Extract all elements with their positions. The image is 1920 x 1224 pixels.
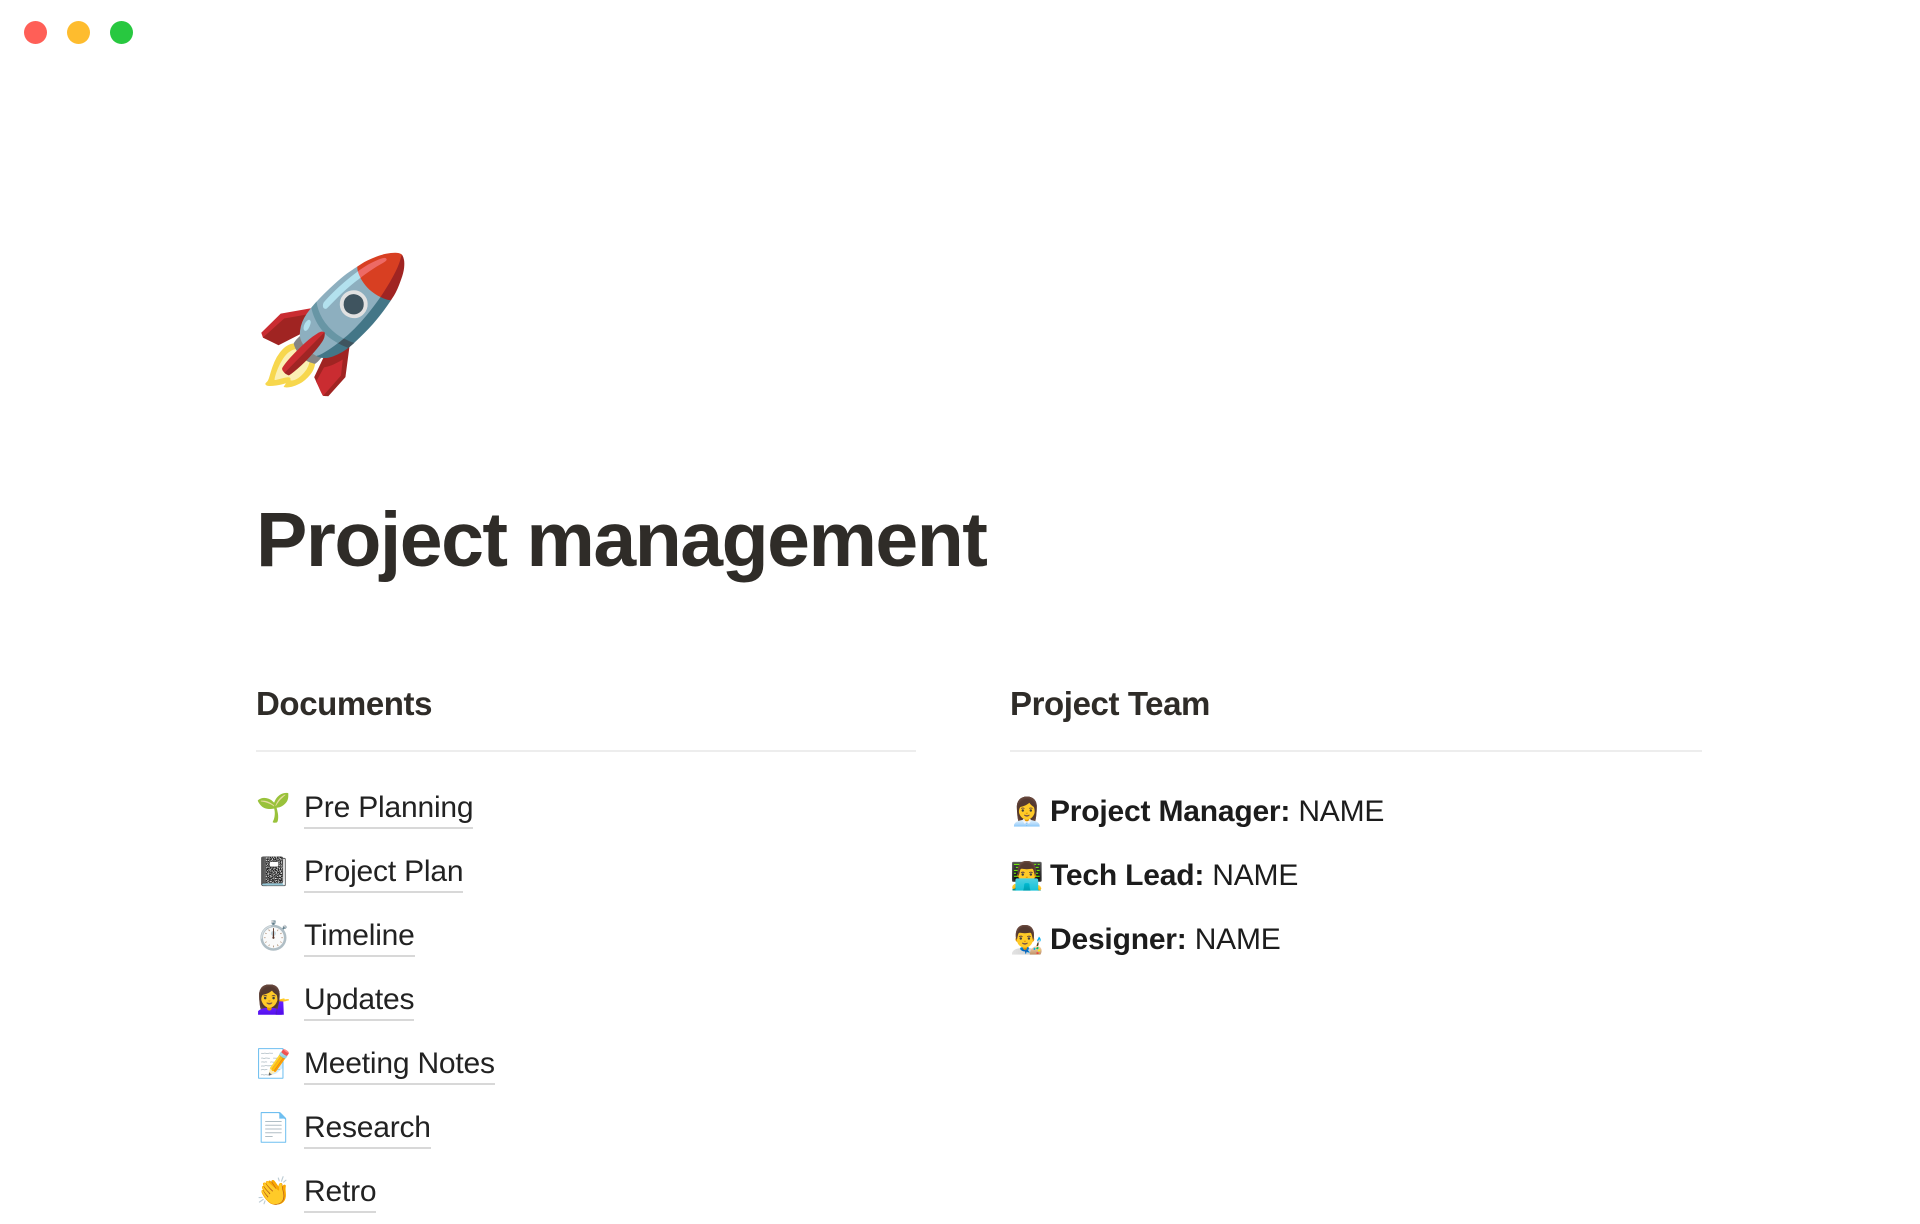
document-link-timeline[interactable]: Timeline <box>304 921 415 957</box>
project-team-divider <box>1010 750 1702 752</box>
page-icon: 📄 <box>256 1096 304 1160</box>
team-role-label: Project Manager: <box>1050 780 1298 844</box>
documents-column: Documents 🌱 Pre Planning 📓 Project Plan … <box>256 684 916 1224</box>
document-link-pre-planning[interactable]: Pre Planning <box>304 793 473 829</box>
documents-divider <box>256 750 916 752</box>
list-item[interactable]: 📝 Meeting Notes <box>256 1032 916 1096</box>
woman-tipping-hand-icon: 💁‍♀️ <box>256 968 304 1032</box>
list-item[interactable]: 📄 Research <box>256 1096 916 1160</box>
list-item: 👩‍💼 Project Manager: NAME <box>1010 780 1702 844</box>
man-artist-icon: 👨‍🎨 <box>1010 909 1050 973</box>
document-link-updates[interactable]: Updates <box>304 985 414 1021</box>
man-technologist-icon: 👨‍💻 <box>1010 845 1050 909</box>
list-item: 👨‍🎨 Designer: NAME <box>1010 908 1702 972</box>
project-team-column: Project Team 👩‍💼 Project Manager: NAME 👨… <box>1010 684 1702 972</box>
team-role-label: Designer: <box>1050 908 1195 972</box>
project-team-heading: Project Team <box>1010 684 1702 750</box>
team-member-name: NAME <box>1298 780 1384 844</box>
document-link-research[interactable]: Research <box>304 1113 431 1149</box>
team-role-label: Tech Lead: <box>1050 844 1212 908</box>
clapping-hands-icon: 👏 <box>256 1160 304 1224</box>
document-link-meeting-notes[interactable]: Meeting Notes <box>304 1049 495 1085</box>
list-item[interactable]: 🌱 Pre Planning <box>256 776 916 840</box>
team-member-name: NAME <box>1195 908 1281 972</box>
memo-icon: 📝 <box>256 1032 304 1096</box>
woman-office-worker-icon: 👩‍💼 <box>1010 781 1050 845</box>
documents-list: 🌱 Pre Planning 📓 Project Plan ⏱️ Timelin… <box>256 776 916 1224</box>
notebook-icon: 📓 <box>256 840 304 904</box>
list-item[interactable]: 📓 Project Plan <box>256 840 916 904</box>
seedling-icon: 🌱 <box>256 776 304 840</box>
page-content: 🚀 Project management Documents 🌱 Pre Pla… <box>0 0 1920 1200</box>
list-item[interactable]: 👏 Retro <box>256 1160 916 1224</box>
list-item[interactable]: ⏱️ Timeline <box>256 904 916 968</box>
project-team-list: 👩‍💼 Project Manager: NAME 👨‍💻 Tech Lead:… <box>1010 780 1702 972</box>
team-member-name: NAME <box>1212 844 1298 908</box>
page-title: Project management <box>256 500 986 581</box>
list-item[interactable]: 💁‍♀️ Updates <box>256 968 916 1032</box>
document-link-retro[interactable]: Retro <box>304 1177 376 1213</box>
documents-heading: Documents <box>256 684 916 750</box>
list-item: 👨‍💻 Tech Lead: NAME <box>1010 844 1702 908</box>
stopwatch-icon: ⏱️ <box>256 904 304 968</box>
rocket-icon[interactable]: 🚀 <box>252 258 414 388</box>
document-link-project-plan[interactable]: Project Plan <box>304 857 463 893</box>
